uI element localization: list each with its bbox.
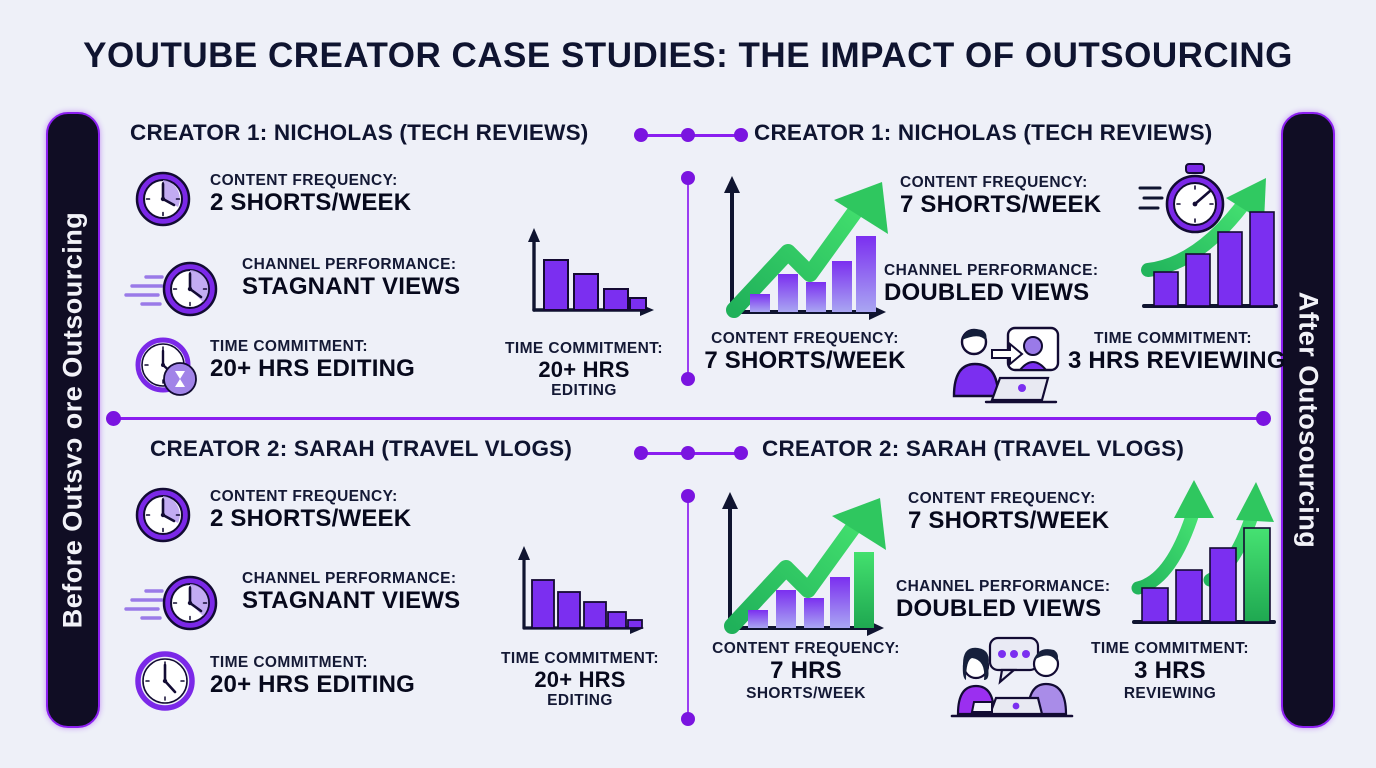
chart-caption: Time Commitment: 20+ Hrs Editing: [480, 650, 680, 710]
connector-dot: [681, 446, 695, 460]
metric-value: 20+ Hrs Editing: [210, 671, 415, 699]
creator-1-after-heading: Creator 1: Nicholas (Tech Reviews): [754, 120, 1212, 146]
chart-caption-label: Content Frequency:: [700, 330, 910, 347]
connector-dot: [681, 128, 695, 142]
metric-label: Time Commitment:: [210, 338, 415, 355]
divider-dot-left: [106, 411, 121, 426]
chart-caption-left: Content Frequency: 7 Hrs Shorts/Week: [700, 640, 912, 703]
connector-dot: [634, 128, 648, 142]
team-collaboration-icon: [946, 636, 1076, 722]
infographic-canvas: YouTube Creator Case Studies: The Impact…: [0, 0, 1376, 768]
chart-caption-value: 3 Hrs Reviewing: [1068, 347, 1278, 375]
clock-icon: [134, 650, 196, 712]
metric-label: Content Frequency:: [210, 488, 411, 505]
metric-value: 2 Shorts/Week: [210, 505, 411, 533]
video-call-icon: [948, 324, 1064, 406]
metric-label: Time Commitment:: [210, 654, 415, 671]
before-outsourcing-rail: Before Outsvɔ ore Outsourcing: [46, 112, 100, 728]
after-outsourcing-label: After Outosourcing: [1293, 292, 1324, 549]
chart-caption-value: 20+ Hrs: [480, 667, 680, 692]
page-title: YouTube Creator Case Studies: The Impact…: [0, 36, 1376, 76]
creator-1-before-heading: Creator 1: Nicholas (Tech Reviews): [130, 120, 588, 146]
chart-caption-right: Time Commitment: 3 Hrs Reviewing: [1068, 330, 1278, 375]
declining-bar-chart: [504, 540, 654, 640]
after-outsourcing-rail: After Outosourcing: [1281, 112, 1335, 728]
rising-bar-chart: [710, 160, 900, 330]
chart-caption-label: Time Commitment:: [1064, 640, 1276, 657]
connector-dot: [634, 446, 648, 460]
metric-value: Doubled Views: [896, 595, 1110, 623]
metric-row: Content Frequency: 7 Shorts/Week: [908, 490, 1109, 535]
clock-hourglass-icon: [134, 336, 200, 398]
clock-icon: [134, 486, 192, 544]
metric-value: Stagnant Views: [242, 587, 460, 615]
metric-label: Channel Performance:: [242, 570, 460, 587]
chart-caption: Time Commitment: 20+ Hrs Editing: [484, 340, 684, 400]
metric-value: 7 Shorts/Week: [900, 191, 1101, 219]
metric-value: 2 Shorts/Week: [210, 189, 411, 217]
section-divider: [112, 417, 1264, 420]
metric-label: Channel Performance:: [242, 256, 460, 273]
vertical-connector-top: [687, 178, 689, 378]
connector-dot: [681, 171, 695, 185]
metric-value: 20+ Hrs Editing: [210, 355, 415, 383]
metric-value: Stagnant Views: [242, 273, 460, 301]
chart-caption-sub: Shorts/Week: [700, 685, 912, 703]
chart-caption-label: Time Commitment:: [1068, 330, 1278, 347]
quadrant-bottom-left: Creator 2: Sarah (Travel Vlogs): [112, 428, 672, 728]
chart-caption-left: Content Frequency: 7 Shorts/Week: [700, 330, 910, 375]
connector-dot: [681, 712, 695, 726]
chart-caption-label: Content Frequency:: [700, 640, 912, 657]
chart-caption-label: Time Commitment:: [484, 340, 684, 357]
chart-caption-value: 7 Hrs: [700, 657, 912, 685]
metric-label: Content Frequency:: [908, 490, 1109, 507]
rising-bar-chart: [708, 476, 898, 646]
connector-dot: [681, 489, 695, 503]
quadrant-top-left: Creator 1: Nicholas (Tech Reviews): [112, 112, 672, 412]
creator-2-after-heading: Creator 2: Sarah (Travel Vlogs): [762, 436, 1184, 462]
metric-label: Content Frequency:: [210, 172, 411, 189]
quadrant-top-right: Creator 1: Nicholas (Tech Reviews): [700, 112, 1275, 412]
chart-caption-value: 20+ Hrs: [484, 357, 684, 382]
quadrant-bottom-right: Creator 2: Sarah (Travel Vlogs): [700, 428, 1275, 728]
clock-motion-icon: [122, 260, 222, 318]
connector-dot: [681, 372, 695, 386]
metric-label: Channel Performance:: [896, 578, 1110, 595]
metric-label: Channel Performance:: [884, 262, 1098, 279]
metric-value: Doubled Views: [884, 279, 1098, 307]
chart-caption-label: Time Commitment:: [480, 650, 680, 667]
metric-value: 7 Shorts/Week: [908, 507, 1109, 535]
chart-caption-right: Time Commitment: 3 Hrs Reviewing: [1064, 640, 1276, 703]
chart-caption-sub: Reviewing: [1064, 685, 1276, 703]
vertical-connector-bottom: [687, 496, 689, 718]
divider-dot-right: [1256, 411, 1271, 426]
metric-row: Content Frequency: 7 Shorts/Week: [900, 174, 1101, 219]
chart-caption-sub: Editing: [480, 692, 680, 710]
creator-2-before-heading: Creator 2: Sarah (Travel Vlogs): [150, 436, 572, 462]
stopwatch-growth-icon: [1140, 160, 1280, 320]
chart-caption-value: 3 Hrs: [1064, 657, 1276, 685]
metric-row: Channel Performance: Doubled Views: [896, 578, 1110, 623]
metric-label: Content Frequency:: [900, 174, 1101, 191]
before-outsourcing-label: Before Outsvɔ ore Outsourcing: [58, 212, 89, 629]
chart-caption-value: 7 Shorts/Week: [700, 347, 910, 375]
chart-caption-sub: Editing: [484, 382, 684, 400]
clock-motion-icon: [122, 574, 222, 632]
clock-icon: [134, 170, 192, 228]
declining-bar-chart: [512, 222, 662, 322]
metric-row: Channel Performance: Doubled Views: [884, 262, 1098, 307]
dual-arrow-growth-icon: [1132, 476, 1278, 638]
